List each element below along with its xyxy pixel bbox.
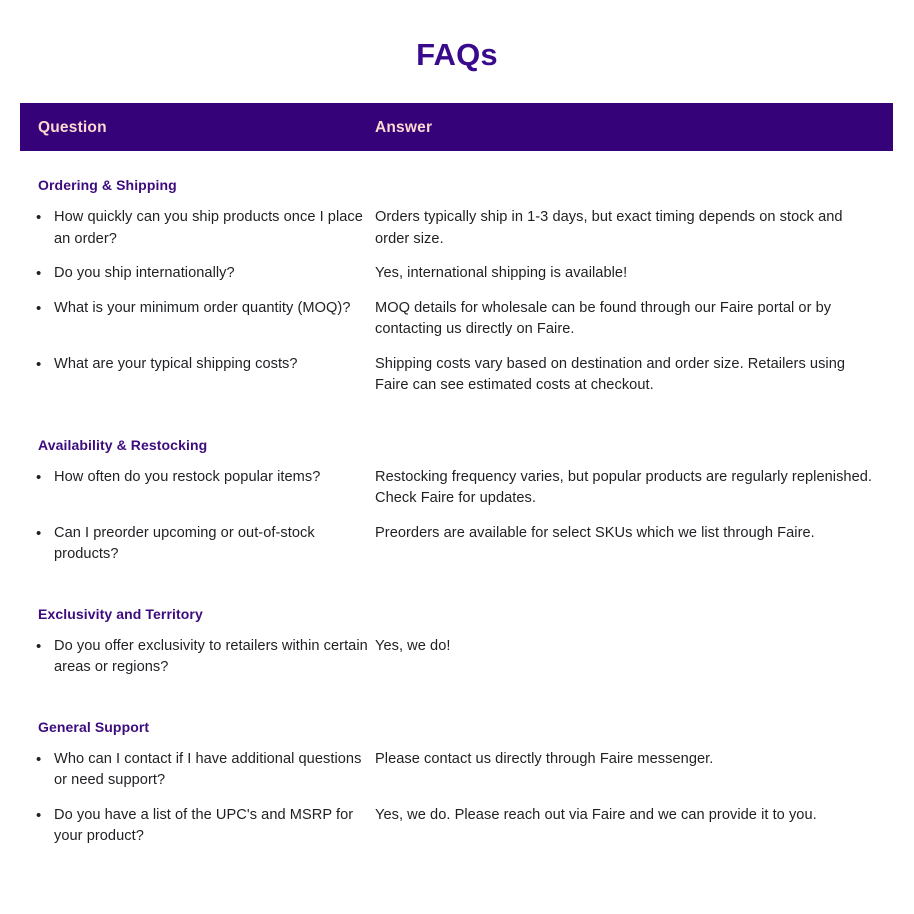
- answer-text: Preorders are available for select SKUs …: [375, 525, 815, 541]
- question-text: Do you have a list of the UPC's and MSRP…: [54, 807, 353, 845]
- section-heading: General Support: [20, 679, 893, 736]
- bullet-icon: •: [36, 263, 48, 285]
- answer-cell: Please contact us directly through Faire…: [375, 749, 893, 771]
- answer-cell: Preorders are available for select SKUs …: [375, 523, 893, 545]
- question-text: What are your typical shipping costs?: [54, 356, 298, 372]
- column-header-question: Question: [38, 118, 107, 137]
- bullet-icon: •: [36, 354, 48, 376]
- faq-row: •Do you offer exclusivity to retailers w…: [20, 623, 893, 679]
- section-heading: Exclusivity and Territory: [20, 566, 893, 623]
- column-header-answer: Answer: [375, 118, 432, 137]
- answer-text: Orders typically ship in 1-3 days, but e…: [375, 209, 843, 247]
- question-text: Can I preorder upcoming or out-of-stock …: [54, 525, 315, 563]
- bullet-icon: •: [36, 636, 48, 658]
- answer-text: Shipping costs vary based on destination…: [375, 356, 845, 394]
- bullet-icon: •: [36, 805, 48, 827]
- question-cell: •How quickly can you ship products once …: [20, 207, 375, 250]
- question-cell: •Can I preorder upcoming or out-of-stock…: [20, 523, 375, 566]
- answer-text: Please contact us directly through Faire…: [375, 751, 713, 767]
- question-cell: •What are your typical shipping costs?: [20, 354, 375, 376]
- answer-text: Yes, we do. Please reach out via Faire a…: [375, 807, 817, 823]
- question-cell: •Who can I contact if I have additional …: [20, 749, 375, 792]
- question-text: Do you offer exclusivity to retailers wi…: [54, 638, 368, 676]
- question-cell: •Do you offer exclusivity to retailers w…: [20, 636, 375, 679]
- bullet-icon: •: [36, 467, 48, 489]
- faq-row: •Do you have a list of the UPC's and MSR…: [20, 792, 893, 848]
- faq-row: •How quickly can you ship products once …: [20, 194, 893, 250]
- question-text: Do you ship internationally?: [54, 265, 235, 281]
- question-cell: •Do you have a list of the UPC's and MSR…: [20, 805, 375, 848]
- bullet-icon: •: [36, 523, 48, 545]
- faq-section: Ordering & Shipping•How quickly can you …: [20, 151, 893, 397]
- faq-section: Exclusivity and Territory•Do you offer e…: [20, 566, 893, 679]
- question-cell: •What is your minimum order quantity (MO…: [20, 298, 375, 320]
- answer-cell: Shipping costs vary based on destination…: [375, 354, 893, 397]
- faq-row: •Do you ship internationally?Yes, intern…: [20, 250, 893, 285]
- section-heading: Ordering & Shipping: [20, 151, 893, 194]
- question-text: How quickly can you ship products once I…: [54, 209, 363, 247]
- answer-cell: Orders typically ship in 1-3 days, but e…: [375, 207, 893, 250]
- faq-table-header: Question Answer: [20, 103, 893, 151]
- question-text: How often do you restock popular items?: [54, 469, 320, 485]
- faq-row: •Can I preorder upcoming or out-of-stock…: [20, 510, 893, 566]
- answer-cell: Restocking frequency varies, but popular…: [375, 467, 893, 510]
- page-title: FAQs: [0, 36, 914, 74]
- answer-text: Restocking frequency varies, but popular…: [375, 469, 872, 507]
- question-cell: •Do you ship internationally?: [20, 263, 375, 285]
- faq-row: •What is your minimum order quantity (MO…: [20, 285, 893, 341]
- faq-row: •How often do you restock popular items?…: [20, 454, 893, 510]
- question-text: What is your minimum order quantity (MOQ…: [54, 300, 350, 316]
- answer-cell: Yes, we do!: [375, 636, 893, 658]
- question-cell: •How often do you restock popular items?: [20, 467, 375, 489]
- question-text: Who can I contact if I have additional q…: [54, 751, 361, 789]
- faq-section: General Support•Who can I contact if I h…: [20, 679, 893, 848]
- bullet-icon: •: [36, 749, 48, 771]
- faq-row: •Who can I contact if I have additional …: [20, 736, 893, 792]
- answer-cell: MOQ details for wholesale can be found t…: [375, 298, 893, 341]
- answer-text: Yes, international shipping is available…: [375, 265, 627, 281]
- answer-cell: Yes, we do. Please reach out via Faire a…: [375, 805, 893, 827]
- faq-row: •What are your typical shipping costs?Sh…: [20, 341, 893, 397]
- answer-text: MOQ details for wholesale can be found t…: [375, 300, 831, 338]
- faq-table-body: Ordering & Shipping•How quickly can you …: [20, 151, 893, 848]
- bullet-icon: •: [36, 298, 48, 320]
- bullet-icon: •: [36, 207, 48, 229]
- section-heading: Availability & Restocking: [20, 397, 893, 454]
- faq-section: Availability & Restocking•How often do y…: [20, 397, 893, 566]
- answer-text: Yes, we do!: [375, 638, 450, 654]
- faq-page: FAQs Question Answer Ordering & Shipping…: [0, 0, 914, 914]
- answer-cell: Yes, international shipping is available…: [375, 263, 893, 285]
